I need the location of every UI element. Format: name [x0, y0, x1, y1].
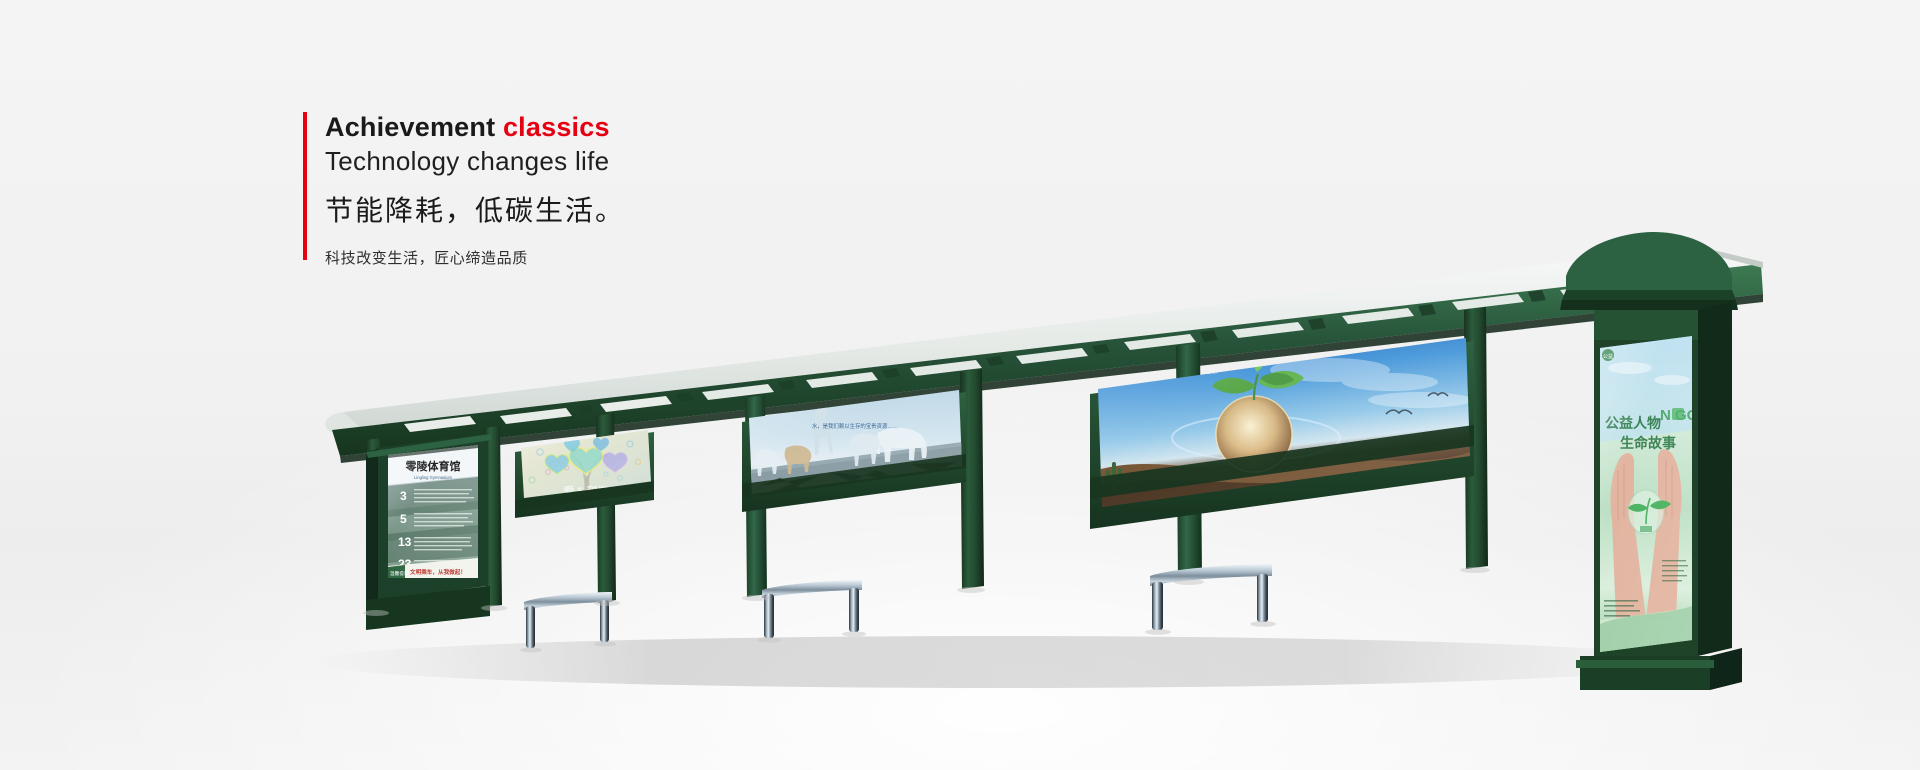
timetable-cabinet: 零陵体育馆 Lingling Gymnasium 3 5 13 23: [366, 434, 492, 630]
scene-background: Achievement classics Technology changes …: [0, 0, 1920, 770]
kiosk: 公益 公益人物 生命故事 N GO: [1560, 232, 1742, 690]
ground-shadow: [310, 636, 1690, 688]
bus-shelter-illustration: 零陵体育馆 Lingling Gymnasium 3 5 13 23: [0, 0, 1920, 770]
bench-2: [757, 580, 866, 643]
timetable-cabinet-left-return: [366, 449, 378, 603]
kiosk-roof-cap: [1566, 232, 1732, 290]
kiosk-upper-band: [1594, 310, 1698, 340]
heart-tree-billboard: 爱 5 和谐: [515, 430, 654, 518]
roof-fascia-shadow: [340, 294, 1763, 463]
bench-3: [1145, 564, 1276, 635]
kiosk-body-side: [1698, 302, 1732, 656]
